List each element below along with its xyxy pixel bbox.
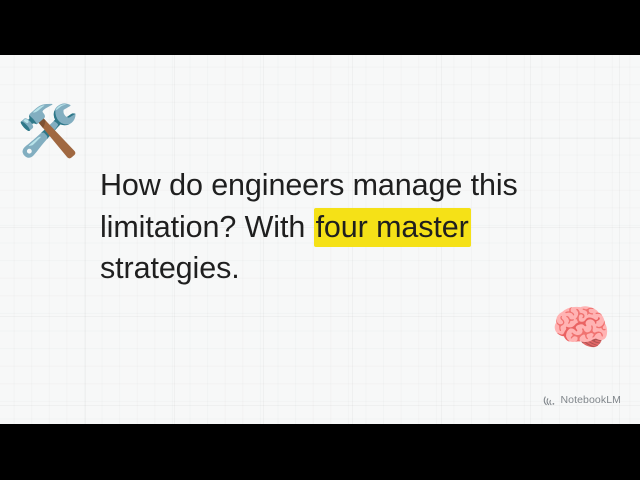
video-frame: 🛠️ How do engineers manage this limitati…: [0, 0, 640, 480]
brain-icon: 🧠: [551, 305, 611, 353]
notebooklm-watermark: NotebookLM: [543, 394, 621, 406]
hammer-and-wrench-icon: 🛠️: [17, 106, 79, 156]
slide-canvas: 🛠️ How do engineers manage this limitati…: [0, 55, 640, 424]
notebooklm-label: NotebookLM: [560, 394, 621, 406]
headline-text: How do engineers manage this limitation?…: [100, 165, 540, 290]
headline-highlight: four master: [314, 208, 471, 247]
notebooklm-icon: [543, 395, 556, 406]
letterbox-bottom: [0, 424, 640, 480]
letterbox-top: [0, 0, 640, 55]
